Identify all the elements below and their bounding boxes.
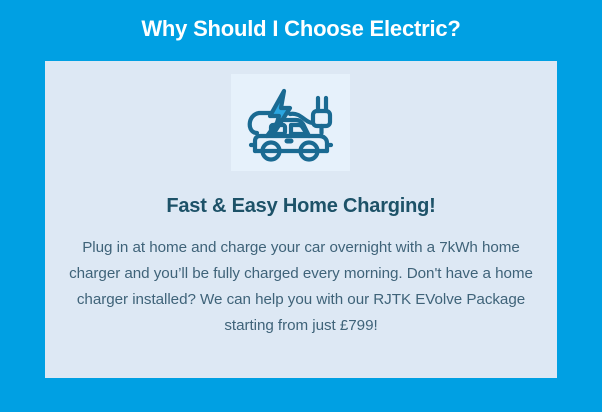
card-heading: Fast & Easy Home Charging! xyxy=(45,192,557,220)
page-title: Why Should I Choose Electric? xyxy=(0,14,602,44)
card-body-text: Plug in at home and charge your car over… xyxy=(63,235,539,339)
ev-car-charging-icon xyxy=(243,83,339,163)
feature-card: Fast & Easy Home Charging! Plug in at ho… xyxy=(45,61,557,378)
promo-banner: Why Should I Choose Electric? xyxy=(0,0,602,412)
icon-tile xyxy=(231,74,350,171)
